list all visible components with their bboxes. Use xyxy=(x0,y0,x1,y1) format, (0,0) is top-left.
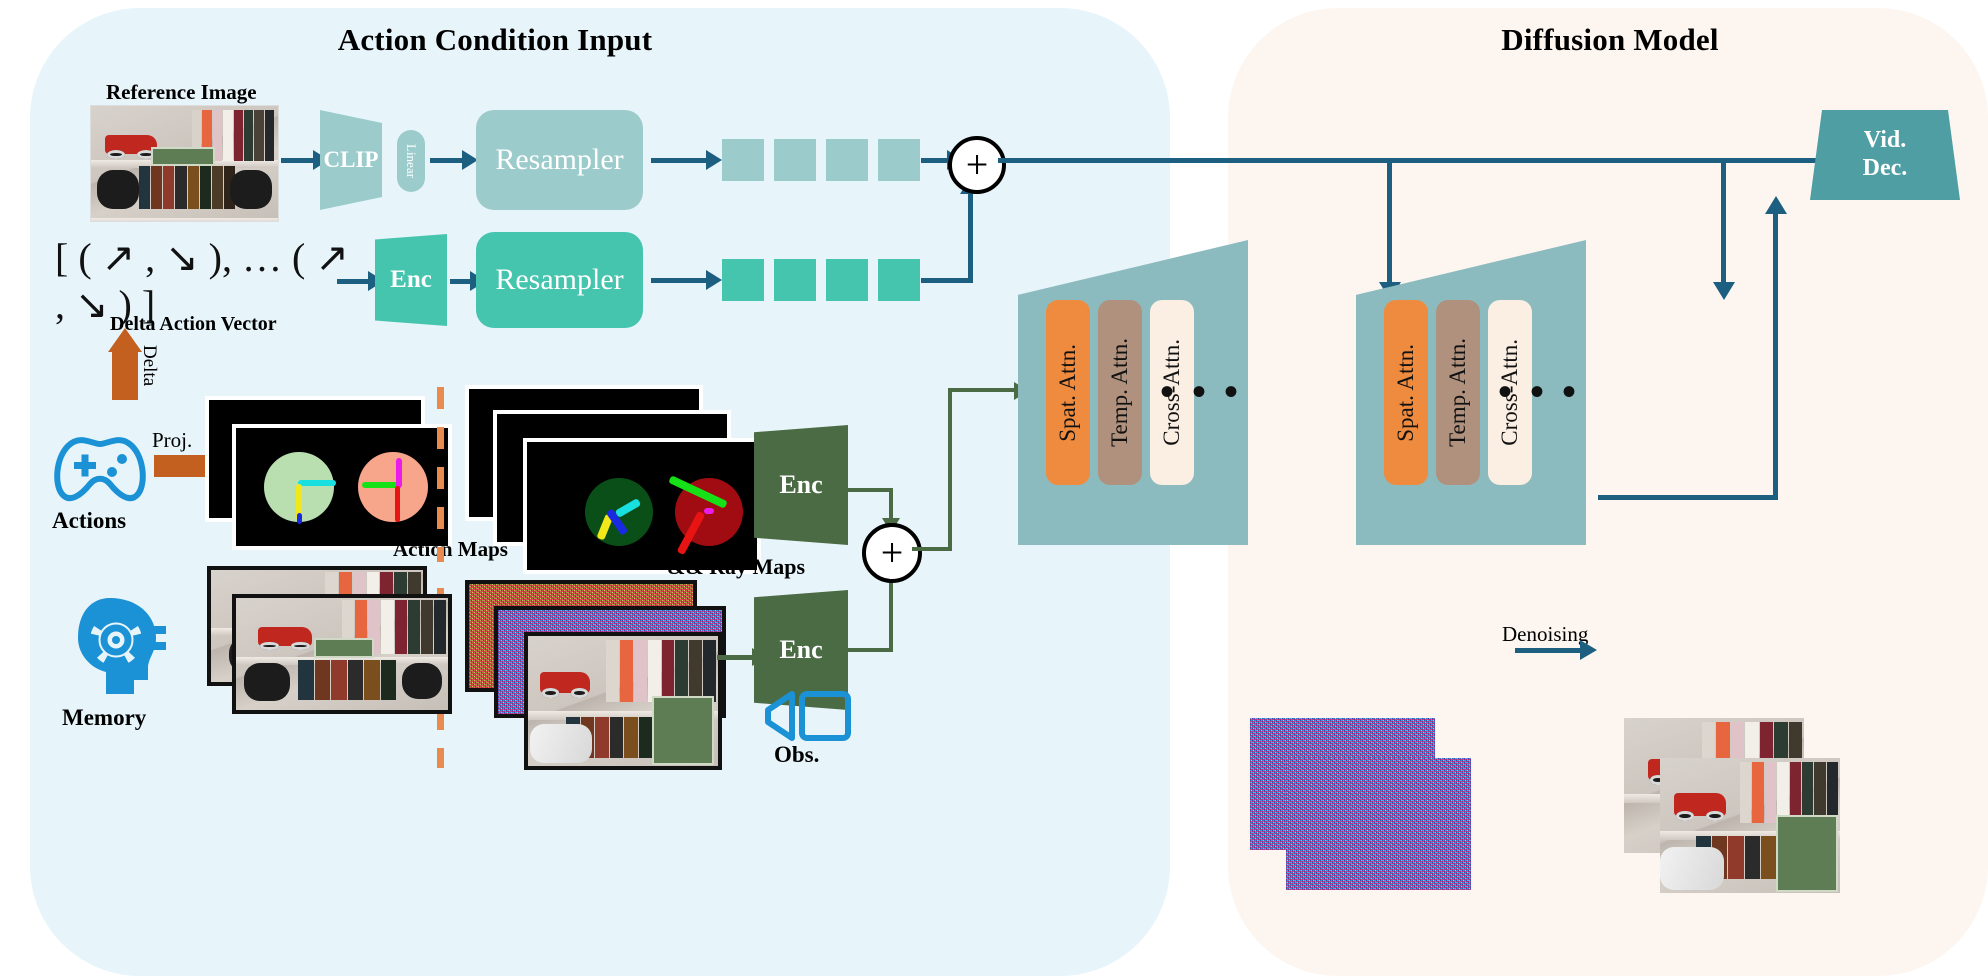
divider-dash-upper xyxy=(437,387,444,562)
line-ray-enc-right xyxy=(847,488,893,492)
action-token-2 xyxy=(774,259,816,301)
right-panel-title: Diffusion Model xyxy=(1460,22,1760,58)
memory-label: Memory xyxy=(62,705,146,731)
image-token-4 xyxy=(878,139,920,181)
gamepad-icon xyxy=(48,432,152,508)
delta-arrow-shaft xyxy=(112,348,138,400)
latent-sum-symbol: + xyxy=(881,533,904,573)
line-sum-to-unet xyxy=(948,388,1018,392)
action-token-1 xyxy=(722,259,764,301)
unet2-temp-attn-label: Temp. Attn. xyxy=(1445,338,1471,447)
reference-image-label: Reference Image xyxy=(106,80,257,105)
line-unet-to-viddec-v xyxy=(1773,214,1778,499)
action-maps-label: Action Maps xyxy=(393,537,508,562)
obs-label: Obs. xyxy=(774,742,819,768)
delta-arrow-label: Delta xyxy=(138,345,160,386)
action-resampler-label: Resampler xyxy=(495,263,623,297)
unet1-spat-attn-label: Spat. Attn. xyxy=(1055,344,1081,442)
ray-encoder-label: Enc xyxy=(779,470,822,500)
arrowhead-into-viddec xyxy=(1765,196,1787,214)
gripper-left xyxy=(97,170,139,209)
condition-bus-horizontal xyxy=(998,158,1898,163)
arrowhead-resampler-to-tokens xyxy=(706,150,722,170)
unet2-temp-attn[interactable]: Temp. Attn. xyxy=(1436,300,1480,485)
unet2-spat-attn-label: Spat. Attn. xyxy=(1393,344,1419,442)
condition-sum-node: + xyxy=(948,136,1006,194)
obs-frame-front xyxy=(524,632,722,770)
denoising-arrow-shaft xyxy=(1515,648,1583,653)
sum-symbol: + xyxy=(966,145,989,185)
action-token-3 xyxy=(826,259,868,301)
image-resampler-label: Resampler xyxy=(495,143,623,177)
arrowhead-resampler2-to-tokens xyxy=(706,270,722,290)
condition-branch-2 xyxy=(1721,158,1726,286)
video-decoder-line2: Dec. xyxy=(1863,155,1908,183)
line-obs-enc-up xyxy=(889,580,893,652)
ray-maps-label: && Ray Maps xyxy=(667,554,805,580)
image-token-1 xyxy=(722,139,764,181)
arrow-resampler-to-tokens xyxy=(651,158,709,163)
video-camera-icon xyxy=(762,690,852,742)
action-stick-magenta xyxy=(396,458,402,488)
unet1-ellipsis: • • • xyxy=(1160,368,1242,415)
action-stick-red xyxy=(395,486,400,522)
reference-image xyxy=(90,105,279,222)
linear-label: Linear xyxy=(403,144,419,178)
unet1-temp-attn[interactable]: Temp. Attn. xyxy=(1098,300,1142,485)
action-stick-blue xyxy=(297,513,302,524)
green-book xyxy=(151,147,215,166)
denoising-label: Denoising xyxy=(1502,622,1588,647)
latent-sum-node: + xyxy=(862,523,922,583)
line-ray-enc-down xyxy=(889,488,893,522)
delta-action-expression: [ ( ↗ , ↘ ), … ( ↗ , ↘ ) ] xyxy=(55,250,365,312)
action-stick-cyan xyxy=(298,480,336,486)
image-token-3 xyxy=(826,139,868,181)
line-action-tokens-up xyxy=(968,193,973,283)
obs-encoder-label: Enc xyxy=(779,635,822,665)
denoise-output-front xyxy=(1660,758,1840,893)
line-unet-to-viddec-h xyxy=(1598,495,1778,500)
image-token-2 xyxy=(774,139,816,181)
delta-arrow-head xyxy=(108,328,142,352)
unet2-spat-attn[interactable]: Spat. Attn. xyxy=(1384,300,1428,485)
unet1-temp-attn-label: Temp. Attn. xyxy=(1107,338,1133,447)
line-sum-up xyxy=(948,388,952,550)
proj-label: Proj. xyxy=(152,428,192,453)
video-decoder[interactable]: Vid. Dec. xyxy=(1810,110,1960,200)
line-sum-right xyxy=(912,547,952,551)
denoising-arrow-head xyxy=(1580,640,1597,660)
line-action-tokens-right xyxy=(921,278,973,283)
arrow-delta-to-enc xyxy=(337,279,371,284)
action-encoder-label: Enc xyxy=(390,266,432,294)
video-decoder-line1: Vid. xyxy=(1864,127,1906,155)
denoise-input-front xyxy=(1286,758,1471,890)
linear-block[interactable]: Linear xyxy=(397,130,425,192)
unet1-spat-attn[interactable]: Spat. Attn. xyxy=(1046,300,1090,485)
clip-label: CLIP xyxy=(324,147,379,173)
left-panel-title: Action Condition Input xyxy=(330,22,660,58)
ray-stick-magenta xyxy=(704,508,714,514)
arrowhead-cross-attn-2 xyxy=(1713,282,1735,300)
memory-frame-front xyxy=(232,594,452,714)
arrow-ref-to-clip xyxy=(281,158,315,163)
ray-encoder[interactable]: Enc xyxy=(754,425,848,545)
image-resampler[interactable]: Resampler xyxy=(476,110,643,210)
action-resampler[interactable]: Resampler xyxy=(476,232,643,328)
action-map-front xyxy=(232,424,452,550)
action-encoder[interactable]: Enc xyxy=(375,234,447,326)
actions-label: Actions xyxy=(52,508,126,534)
arrow-obs-to-enc xyxy=(717,655,755,660)
proj-arrow-shaft xyxy=(154,455,206,477)
brain-chip-icon xyxy=(72,596,168,700)
arrow-resampler2-to-tokens xyxy=(651,278,709,283)
action-token-4 xyxy=(878,259,920,301)
clip-encoder[interactable]: CLIP xyxy=(320,110,382,210)
gripper-right xyxy=(230,170,272,209)
arrow-linear-to-resampler xyxy=(430,158,464,163)
line-obs-enc-right xyxy=(847,648,893,652)
unet2-ellipsis: • • • xyxy=(1498,368,1580,415)
toy-car xyxy=(105,135,157,155)
condition-branch-1 xyxy=(1387,158,1392,286)
